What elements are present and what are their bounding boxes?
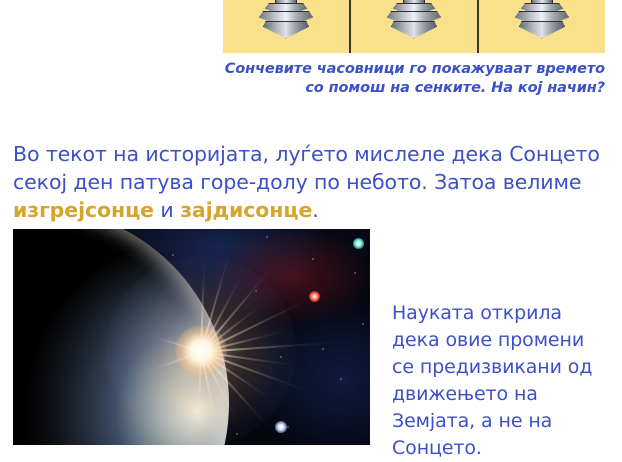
sun-core	[175, 325, 227, 377]
sundial-figure-cell-2	[351, 0, 479, 53]
term-sunrise: изгрејсонце	[13, 198, 154, 222]
intro-conjunction: и	[154, 198, 180, 222]
figure-caption: Сончевите часовници го покажуваат времет…	[223, 60, 605, 98]
intro-text-part-2: .	[312, 198, 318, 222]
teal-star-icon	[353, 238, 364, 249]
sundial-figure-cell-1	[223, 0, 351, 53]
sundial-gnomon-icon	[384, 0, 444, 43]
sundial-gnomon-icon	[256, 0, 316, 43]
red-star-icon	[309, 291, 320, 302]
gnomon-tier-bottom	[519, 21, 565, 39]
sundial-figure-cell-3	[479, 0, 605, 53]
intro-text-part-1: Во текот на историјата, луѓето мислеле д…	[13, 142, 600, 194]
figure-caption-line-2: со помош на сенките. На кој начин?	[223, 79, 605, 98]
figure-caption-line-1: Сончевите часовници го покажуваат времет…	[223, 60, 605, 79]
white-star-icon	[275, 421, 287, 433]
science-explanation-text: Науката открила дека овие промени се пре…	[392, 300, 608, 462]
term-sunset: зајдисонце	[180, 198, 312, 222]
intro-paragraph: Во текот на историјата, луѓето мислеле д…	[13, 140, 609, 224]
sundial-figure-panel	[223, 0, 605, 53]
sundial-gnomon-icon	[512, 0, 572, 43]
earth-space-image	[13, 229, 370, 445]
gnomon-tier-bottom	[263, 21, 309, 39]
gnomon-tier-bottom	[391, 21, 437, 39]
